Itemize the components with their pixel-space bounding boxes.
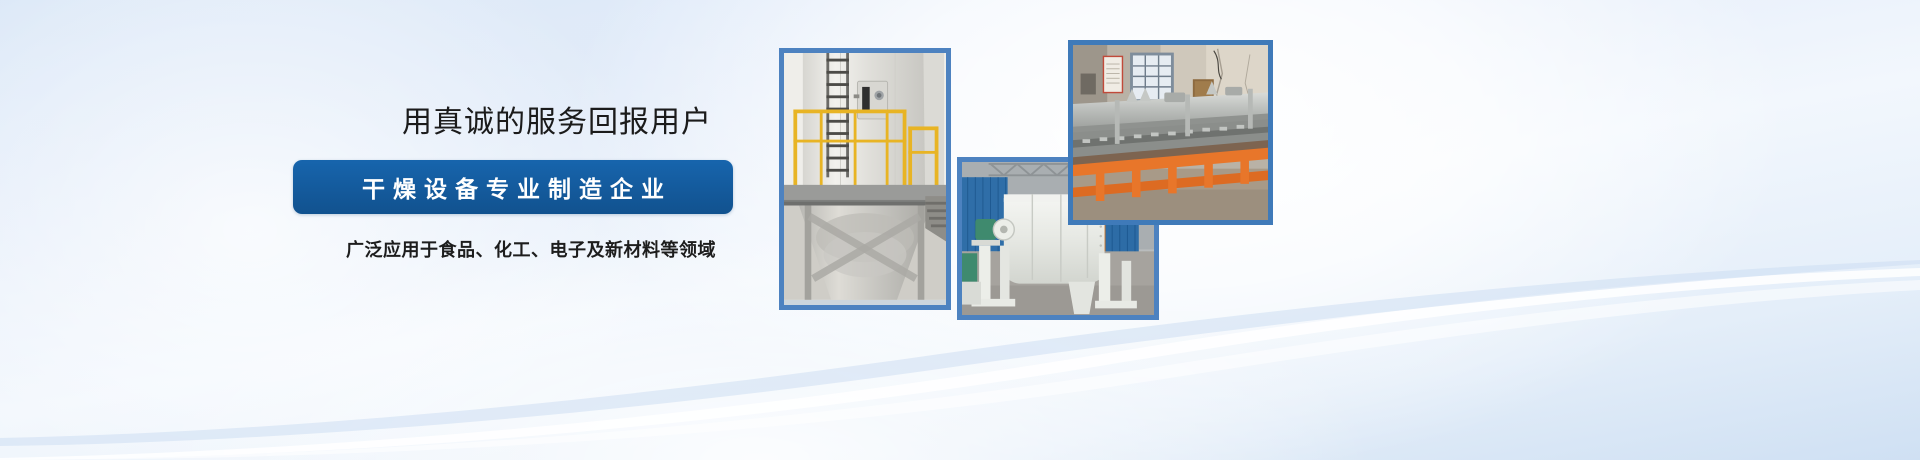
banner-subtitle: 广泛应用于食品、化工、电子及新材料等领域 [293, 236, 763, 262]
page-title: 用真诚的服务回报用户 [293, 108, 763, 138]
banner-text-block: 用真诚的服务回报用户 干燥设备专业制造企业 广泛应用于食品、化工、电子及新材料等… [293, 108, 763, 262]
spray-dryer-tower-image [784, 53, 946, 300]
status-badge-label: 干燥设备专业制造企业 [354, 170, 672, 204]
status-badge: 干燥设备专业制造企业 [293, 160, 733, 214]
belt-conveyor-dryer-photo [1068, 40, 1273, 225]
belt-conveyor-dryer-image [1073, 45, 1268, 221]
promo-banner: 用真诚的服务回报用户 干燥设备专业制造企业 广泛应用于食品、化工、电子及新材料等… [0, 0, 1920, 460]
spray-dryer-tower-photo [779, 48, 951, 310]
